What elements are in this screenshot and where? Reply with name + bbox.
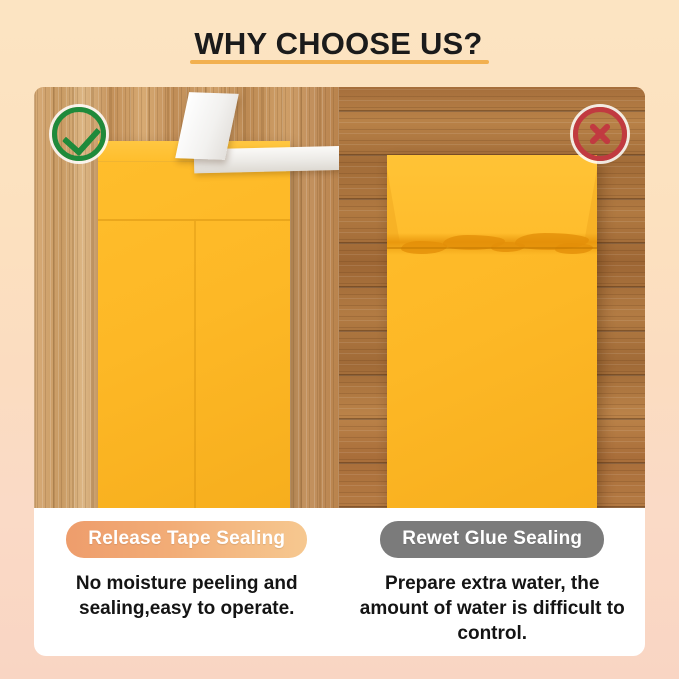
page-title: WHY CHOOSE US? [0,26,679,62]
check-glyph [62,117,101,157]
caption-rewet-glue-sealing: Prepare extra water, the amount of water… [358,571,626,646]
envelope-center-seam [194,221,196,508]
title-text: WHY CHOOSE US? [194,26,482,62]
title-underline [190,60,488,64]
title-wrap: WHY CHOOSE US? [190,26,488,62]
photo-pane-positive [34,87,339,508]
badge-rewet-glue-sealing: Rewet Glue Sealing [380,521,604,558]
badge-release-tape-sealing: Release Tape Sealing [66,521,307,558]
info-column-negative: Rewet Glue Sealing Prepare extra water, … [340,508,646,656]
envelope-release-tape [98,141,290,508]
info-column-positive: Release Tape Sealing No moisture peeling… [34,508,340,656]
envelope-rewet-glue [387,155,597,508]
check-circle-icon [52,107,106,161]
photo-pane-negative [339,87,645,508]
cross-circle-icon [573,107,627,161]
why-choose-us-infographic: { "header": { "title": "WHY CHOOSE US?",… [0,0,679,679]
comparison-info-card: Release Tape Sealing No moisture peeling… [34,508,645,656]
caption-release-tape-sealing: No moisture peeling and sealing,easy to … [53,571,321,621]
comparison-photo-strip [34,87,645,508]
envelope-flap-edge [387,247,597,249]
